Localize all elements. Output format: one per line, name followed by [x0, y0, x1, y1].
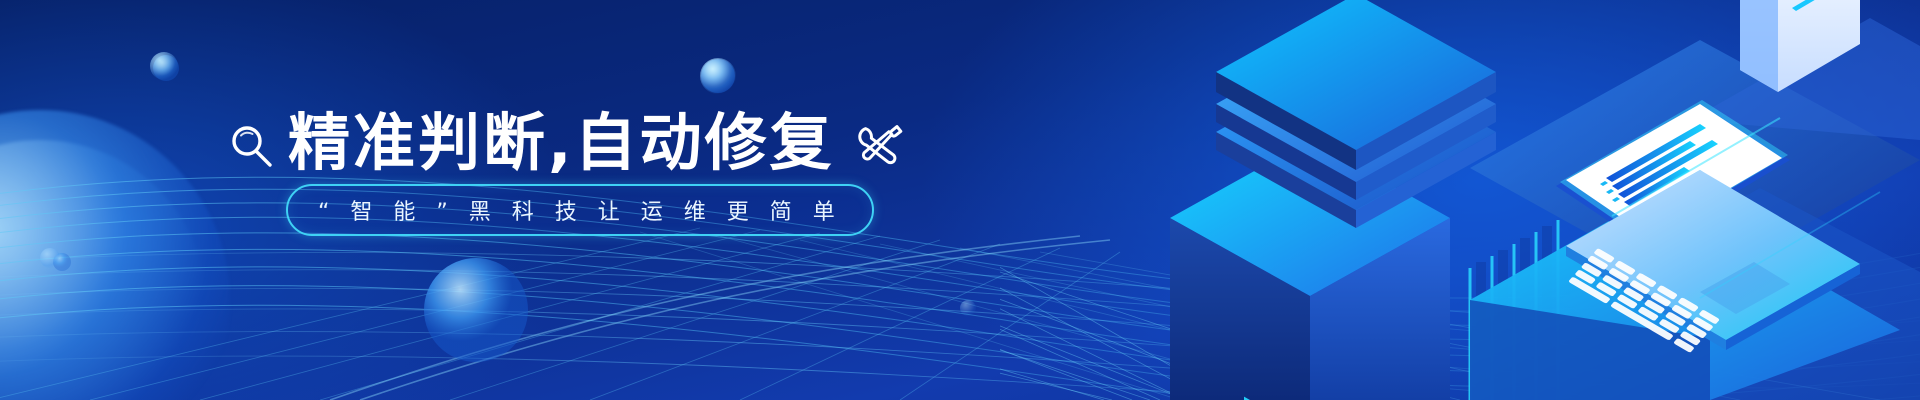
floating-sphere-upper-left — [153, 55, 179, 81]
isometric-building-tower — [1170, 0, 1496, 400]
isometric-illustration — [1000, 0, 1920, 400]
wrench-screwdriver-icon — [855, 118, 909, 172]
subtitle-pill: “ 智 能 ” 黑 科 技 让 运 维 更 简 单 — [286, 184, 874, 236]
floating-sphere-top — [701, 59, 735, 93]
floating-sphere-center — [424, 258, 528, 362]
illustration-svg — [1000, 0, 1920, 400]
page-title: 精准判断,自动修复 — [288, 112, 835, 174]
magnifier-icon — [228, 123, 274, 169]
subtitle-text: “ 智 能 ” 黑 科 技 让 运 维 更 简 单 — [318, 194, 842, 226]
headline-block: 精准判断,自动修复 — [228, 104, 1068, 182]
tech-banner: 精准判断,自动修复 “ 智 能 ” 黑 科 技 让 运 维 更 简 单 — [0, 0, 1920, 400]
floating-sphere-left-small — [53, 253, 71, 271]
